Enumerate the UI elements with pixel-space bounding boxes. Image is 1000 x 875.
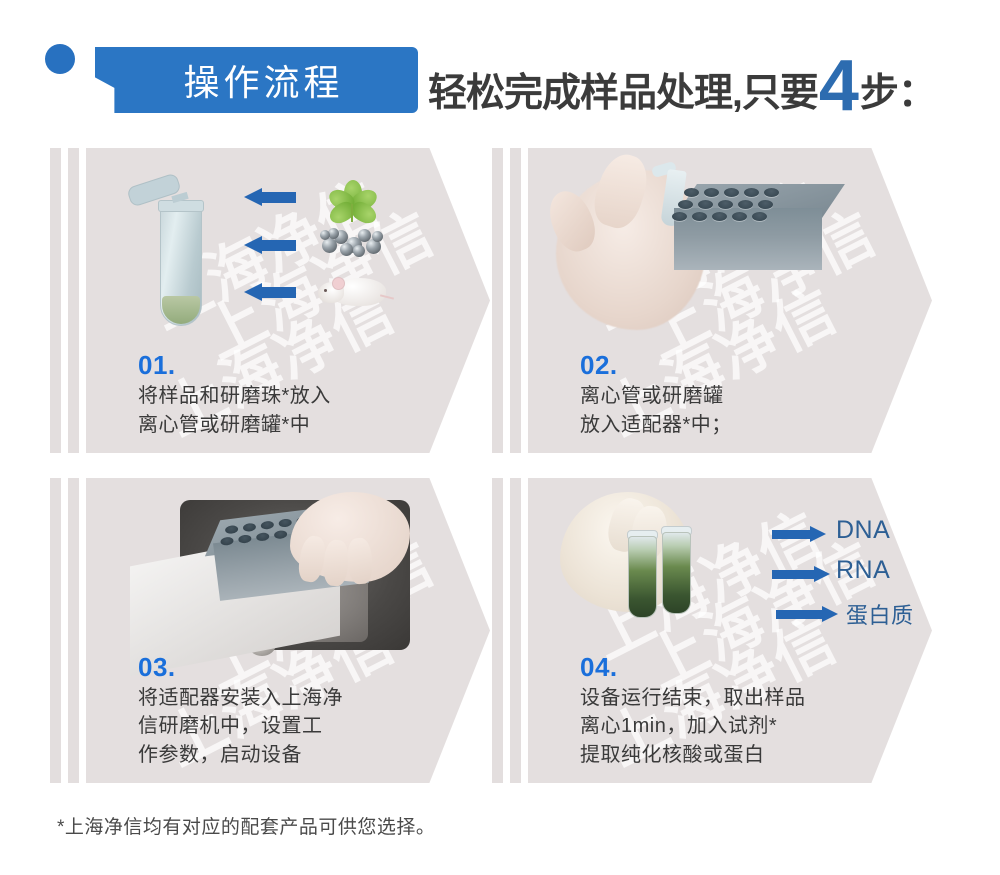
- left-arrow-icon: [244, 236, 296, 254]
- panel-accent-bar: [50, 478, 61, 783]
- step-02-text: 02. 离心管或研磨罐 放入适配器*中；: [580, 352, 732, 439]
- panel-accent-bar: [492, 478, 503, 783]
- sample-tube-icon: [628, 536, 657, 618]
- panel-accent-bar: [50, 148, 61, 453]
- panel-accent-bar: [68, 148, 79, 453]
- output-label-rna: RNA: [836, 556, 890, 585]
- step-text-line: 离心管或研磨罐*中: [138, 411, 331, 439]
- headline: 轻松完成样品处理,只要 4 步 ：: [428, 46, 937, 114]
- step-01-text: 01. 将样品和研磨珠*放入 离心管或研磨罐*中: [138, 352, 331, 439]
- infographic-page: 操作流程 轻松完成样品处理,只要 4 步 ： 上海净信 上海净信 上海净信: [0, 0, 1000, 875]
- panel-body: 上海净信 上海净信 上海净信: [86, 478, 490, 783]
- sample-tube-icon: [662, 532, 691, 614]
- step-text-line: 设备运行结束，取出样品: [580, 684, 806, 712]
- panel-body: 上海净信 上海净信 上海净信: [528, 148, 932, 453]
- step-text-line: 将样品和研磨珠*放入: [138, 382, 331, 410]
- step-number: 03.: [138, 654, 343, 681]
- step-text-line: 将适配器安装入上海净: [138, 684, 343, 712]
- panel-accent-bar: [510, 148, 521, 453]
- panel-accent-bar: [68, 478, 79, 783]
- headline-colon: ：: [898, 62, 937, 118]
- leaf-icon: [324, 172, 380, 224]
- step-text-line: 离心1min，加入试剂*: [580, 712, 806, 740]
- panel-accent-bar: [492, 148, 503, 453]
- output-label-protein: 蛋白质: [846, 598, 914, 630]
- step-text-line: 离心管或研磨罐: [580, 382, 732, 410]
- step-number: 04.: [580, 654, 806, 681]
- step-text-line: 提取纯化核酸或蛋白: [580, 741, 806, 769]
- headline-prefix: 轻松完成样品处理,只要: [428, 62, 818, 118]
- step-text-line: 放入适配器*中；: [580, 411, 732, 439]
- step-number: 02.: [580, 352, 732, 379]
- step-04-text: 04. 设备运行结束，取出样品 离心1min，加入试剂* 提取纯化核酸或蛋白: [580, 654, 806, 769]
- step-03-text: 03. 将适配器安装入上海净 信研磨机中，设置工 作参数，启动设备: [138, 654, 343, 769]
- step-panel-01: 上海净信 上海净信 上海净信: [50, 148, 490, 453]
- panel-body: 上海净信 上海净信 上海净信: [528, 478, 932, 783]
- grinding-beads-icon: [320, 226, 388, 258]
- step-04-artwork: DNA RNA 蛋白质: [554, 488, 914, 678]
- step-panel-02: 上海净信 上海净信 上海净信: [492, 148, 932, 453]
- panel-body: 上海净信 上海净信 上海净信: [86, 148, 490, 453]
- step-panel-04: 上海净信 上海净信 上海净信: [492, 478, 932, 783]
- headline-suffix: 步: [860, 62, 898, 118]
- step-panel-03: 上海净信 上海净信 上海净信: [50, 478, 490, 783]
- step-text-line: 作参数，启动设备: [138, 741, 343, 769]
- left-arrow-icon: [244, 283, 296, 301]
- output-label-dna: DNA: [836, 516, 890, 545]
- headline-step-count: 4: [819, 50, 859, 122]
- right-arrow-icon: [772, 526, 826, 542]
- header: 操作流程 轻松完成样品处理,只要 4 步 ：: [0, 0, 1000, 140]
- step-text-line: 信研磨机中，设置工: [138, 712, 343, 740]
- right-arrow-icon: [776, 606, 838, 622]
- left-arrow-icon: [244, 188, 296, 206]
- centrifuge-tube-icon: [146, 180, 204, 328]
- section-tab-label: 操作流程: [95, 47, 418, 113]
- right-arrow-icon: [772, 566, 830, 582]
- step-02-artwork: [546, 156, 886, 356]
- mouse-icon: [318, 270, 392, 310]
- adapter-holes: [682, 186, 832, 222]
- footnote: *上海净信均有对应的配套产品可供您选择。: [57, 812, 435, 839]
- panel-accent-bar: [510, 478, 521, 783]
- bullet-dot-icon: [45, 44, 75, 74]
- step-number: 01.: [138, 352, 331, 379]
- step-01-artwork: [106, 166, 436, 341]
